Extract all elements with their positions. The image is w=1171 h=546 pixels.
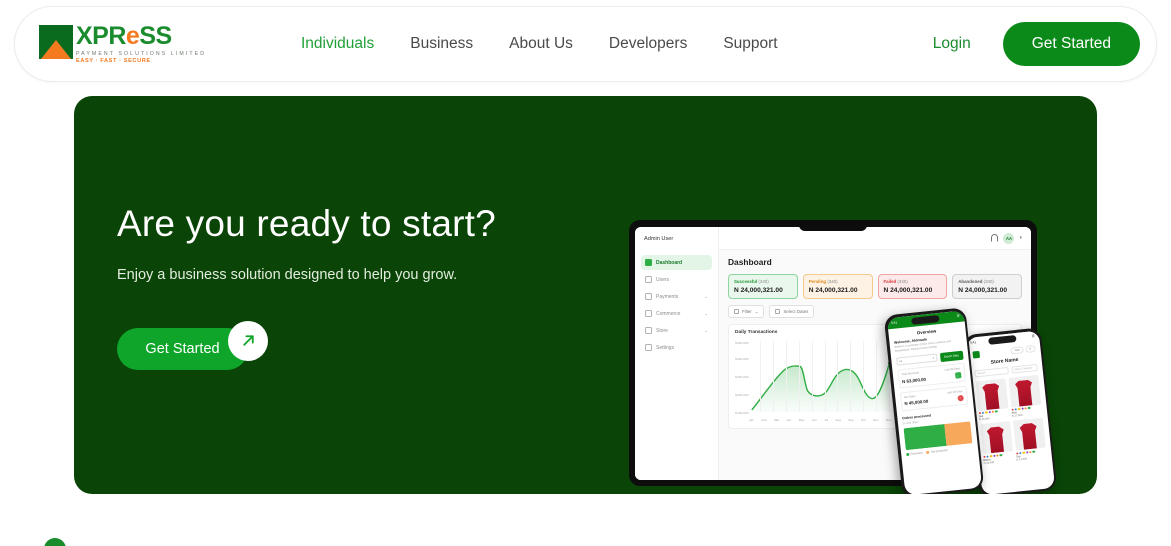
y-tick-2: N300,000 [735, 375, 748, 379]
hero-title: Are you ready to start? [117, 204, 587, 245]
product-image [1012, 418, 1045, 451]
x-tick-nov: Nov [873, 418, 879, 422]
x-tick-dec: Dec [886, 418, 892, 422]
cart-pill[interactable]: Cart [1010, 346, 1024, 354]
bag-icon [645, 310, 652, 317]
sidebar-label-commerce: Commerce [656, 311, 680, 317]
chart-x-axis: Jan Feb Mar Apr May Jun Jul Aug Sep [749, 418, 892, 422]
chevron-down-icon: ⌄ [755, 309, 759, 315]
cart-count-pill[interactable]: 0 [1025, 345, 1035, 353]
grid-icon [645, 259, 652, 266]
nav-item-business[interactable]: Business [410, 35, 473, 53]
orders-split-bar [903, 421, 972, 450]
laptop-notch [799, 220, 867, 231]
nav-item-support[interactable]: Support [723, 35, 777, 53]
chevron-down-icon: ▾ [932, 356, 934, 360]
card-amount: N 45,000.00 [904, 399, 928, 406]
x-tick-aug: Aug [835, 418, 841, 422]
chart-series-path [749, 341, 892, 412]
nav-item-about-us[interactable]: About Us [509, 35, 573, 53]
filter-button[interactable]: Filter ⌄ [728, 305, 764, 318]
overview-filter-select[interactable]: All ▾ [896, 354, 938, 366]
dashboard-filter-row: Filter ⌄ Select Dates [728, 305, 1022, 318]
trend-up-icon: ↑ [957, 395, 964, 402]
stat-card-failed[interactable]: Failed (340) N 24,000,321.00 [878, 274, 948, 299]
dashboard-sidebar: Admin User Dashboard Users Payments ⌄ [635, 227, 719, 480]
line-chart: N100,000 N200,000 N300,000 N400,000 N500… [735, 339, 894, 423]
hero-copy: Are you ready to start? Enjoy a business… [117, 204, 587, 371]
x-tick-sep: Sep [848, 418, 854, 422]
user-icon [645, 276, 652, 283]
signal-icon: ☰ [957, 314, 960, 318]
sidebar-label-store: Store [656, 328, 668, 334]
hero-cta-row: Get Started [117, 321, 317, 371]
y-tick-0: N100,000 [735, 411, 748, 415]
stat-label-abandoned: Abandoned [958, 279, 982, 284]
logo-word-e: e [126, 22, 139, 50]
card-icon [645, 293, 652, 300]
hero-subtitle: Enjoy a business solution designed to he… [117, 267, 587, 283]
stat-card-abandoned[interactable]: Abandoned (340) N 24,000,321.00 [952, 274, 1022, 299]
card-label: Net Sales [904, 395, 916, 399]
product-card[interactable]: Top N 12,000 [1012, 418, 1046, 462]
y-tick-3: N400,000 [735, 357, 748, 361]
stat-card-row: Successful (340) N 24,000,321.00 Pending… [728, 274, 1022, 299]
product-card[interactable]: Shirt N 17,500 [1008, 374, 1042, 418]
sidebar-item-commerce[interactable]: Commerce ⌄ [641, 306, 712, 321]
sidebar-label-dashboard: Dashboard [656, 260, 682, 266]
product-grid: Suit N 25,000 Shirt N 17,500 [970, 370, 1052, 470]
filter-label: Filter [742, 309, 752, 314]
stat-count-successful: (340) [758, 279, 768, 284]
x-tick-feb: Feb [761, 418, 766, 422]
logo-tagline: EASY · FAST · SECURE [76, 59, 206, 65]
overview-body: Welcome, Akinwale Below is a summary of … [889, 333, 978, 457]
overview-card-net-sales: Net Sales Last 30 Days N 45,000.00 ↑ [899, 385, 968, 411]
arrow-up-right-icon[interactable] [228, 321, 268, 361]
logo-word-part2: SS [139, 22, 171, 50]
overview-filter-value: All [899, 360, 903, 364]
sidebar-label-users: Users [656, 277, 669, 283]
dashboard-page-title: Dashboard [728, 257, 1022, 267]
logo-text-block: XPReSS PAYMENT SOLUTIONS LIMITED EASY · … [76, 24, 206, 65]
main-nav: Individuals Business About Us Developers… [301, 35, 778, 53]
product-image [980, 421, 1013, 454]
signal-icon: ☰ [1032, 334, 1035, 338]
stat-card-pending[interactable]: Pending (340) N 24,000,321.00 [803, 274, 873, 299]
nav-item-developers[interactable]: Developers [609, 35, 687, 53]
avatar[interactable]: AA [1003, 233, 1014, 244]
trend-down-icon: ↓ [955, 372, 962, 379]
chevron-down-icon: ⌄ [705, 294, 708, 299]
overview-status-time: 9:41 [891, 320, 898, 325]
stat-amount-pending: N 24,000,321.00 [809, 287, 867, 294]
product-card[interactable]: Suit N 25,000 [975, 378, 1009, 422]
overview-phone-screen: 9:41 ☰ Overview Welcome, Akinwale Below … [886, 310, 981, 494]
x-tick-may: May [799, 418, 805, 422]
product-image [975, 378, 1008, 411]
sidebar-item-store[interactable]: Store ⌄ [641, 323, 712, 338]
stat-count-pending: (340) [827, 279, 837, 284]
bell-icon[interactable] [991, 234, 998, 242]
brand-logo[interactable]: XPReSS PAYMENT SOLUTIONS LIMITED EASY · … [39, 24, 229, 65]
chevron-down-icon[interactable]: ▾ [1019, 235, 1022, 241]
stat-amount-successful: N 24,000,321.00 [734, 287, 792, 294]
stat-count-abandoned: (340) [984, 279, 994, 284]
dashboard-topbar: AA ▾ [719, 227, 1031, 250]
hero-panel: Are you ready to start? Enjoy a business… [74, 96, 1097, 494]
overview-card-total-received: Total Received Last 30 Days N 63,000.00 … [897, 363, 966, 389]
product-image [1008, 374, 1041, 407]
login-link[interactable]: Login [933, 35, 971, 53]
stat-label-failed: Failed [884, 279, 897, 284]
x-tick-jun: Jun [812, 418, 817, 422]
gear-icon [645, 344, 652, 351]
logo-wordmark: XPReSS [76, 24, 206, 49]
stat-count-failed: (340) [897, 279, 907, 284]
sidebar-item-dashboard[interactable]: Dashboard [641, 255, 712, 270]
logo-subtitle: PAYMENT SOLUTIONS LIMITED [76, 52, 206, 57]
chevron-down-icon: ⌄ [705, 311, 708, 316]
card-amount: N 63,000.00 [902, 377, 926, 384]
site-header: XPReSS PAYMENT SOLUTIONS LIMITED EASY · … [14, 6, 1157, 82]
legend-processed: Processed [910, 451, 923, 455]
daily-transactions-panel: Daily Transactions N100,000 N200,000 N30… [728, 324, 901, 429]
stat-label-successful: Successful [734, 279, 757, 284]
select-dates-button[interactable]: Select Dates [769, 305, 814, 318]
store-icon [645, 327, 652, 334]
export-data-button[interactable]: Export Data [940, 351, 964, 362]
stat-card-successful[interactable]: Successful (340) N 24,000,321.00 [728, 274, 798, 299]
card-label: Total Received [901, 372, 919, 377]
x-tick-oct: Oct [861, 418, 866, 422]
x-tick-jan: Jan [749, 418, 754, 422]
x-tick-mar: Mar [774, 418, 779, 422]
x-tick-jul: Jul [824, 418, 828, 422]
header-actions: Login Get Started [933, 22, 1140, 66]
sidebar-item-users[interactable]: Users [641, 272, 712, 287]
card-meta: Last 30 Days [944, 367, 960, 372]
filter-icon [734, 309, 739, 314]
stat-label-pending: Pending [809, 279, 826, 284]
card-meta: Last 30 Days [947, 390, 963, 395]
device-mockup-group: Admin User Dashboard Users Payments ⌄ [629, 220, 1097, 494]
store-logo-icon [972, 350, 980, 358]
page-scroll-decoration [44, 538, 66, 546]
stat-amount-abandoned: N 24,000,321.00 [958, 287, 1016, 294]
calendar-icon [775, 309, 780, 314]
y-tick-1: N200,000 [735, 393, 748, 397]
stat-amount-failed: N 24,000,321.00 [884, 287, 942, 294]
sidebar-item-settings[interactable]: Settings [641, 340, 712, 355]
sidebar-item-payments[interactable]: Payments ⌄ [641, 289, 712, 304]
legend-not-processed: Not processed [931, 449, 948, 454]
chevron-down-icon: ⌄ [705, 328, 708, 333]
chart-title: Daily Transactions [735, 330, 894, 335]
y-tick-4: N500,000 [735, 341, 748, 345]
sidebar-label-payments: Payments [656, 294, 678, 300]
store-status-time: 9:41 [970, 340, 977, 345]
nav-item-individuals[interactable]: Individuals [301, 35, 374, 53]
get-started-button[interactable]: Get Started [1003, 22, 1140, 66]
sidebar-label-settings: Settings [656, 345, 674, 351]
dashboard-user-label: Admin User [641, 236, 712, 242]
select-dates-label: Select Dates [783, 309, 808, 314]
x-tick-apr: Apr [787, 418, 792, 422]
chart-plot-area [749, 341, 892, 412]
logo-word-part1: XPR [76, 22, 126, 50]
logo-mountain-icon [39, 25, 73, 59]
product-card[interactable]: Blazer N 32,000 [980, 421, 1014, 465]
